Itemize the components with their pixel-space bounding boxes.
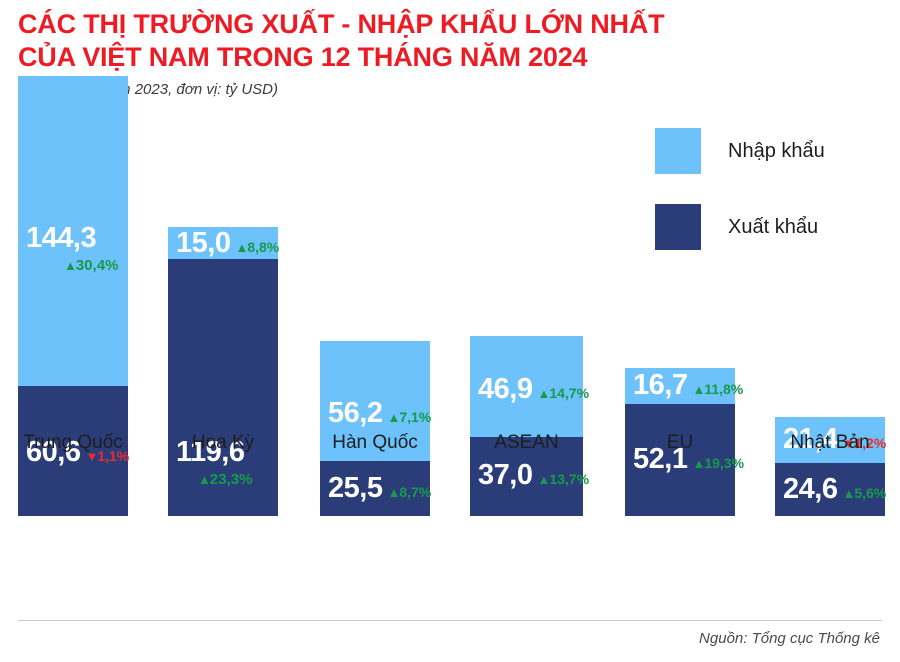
import-value: 56,2 — [328, 399, 382, 428]
import-value: 15,0 — [176, 229, 230, 258]
export-value-label: 24,6▲5,6% — [783, 475, 881, 504]
arrow-up-icon: ▲ — [537, 472, 549, 487]
category-label-2: Hàn Quốc — [290, 432, 460, 454]
category-label-3: ASEAN — [440, 432, 613, 454]
category-label-5: Nhật Bản — [745, 432, 900, 454]
bar-group[interactable]: 15,0▲8,8%119,6▲23,3%Hoa Kỳ — [168, 227, 278, 516]
bar-group[interactable]: 56,2▲7,1%25,5▲8,7%Hàn Quốc — [320, 341, 430, 516]
category-label-0: Trung Quốc — [0, 432, 158, 454]
arrow-up-icon: ▲ — [692, 456, 704, 471]
footer-divider — [18, 620, 882, 621]
arrow-up-icon: ▲ — [842, 486, 854, 501]
import-value-label: 16,7▲11,8% — [633, 371, 731, 400]
import-value: 16,7 — [633, 371, 687, 400]
import-value-label: 46,9▲14,7% — [478, 375, 579, 404]
import-change-up: ▲11,8% — [692, 382, 743, 397]
arrow-up-icon: ▲ — [537, 386, 549, 401]
export-value-label: 25,5▲8,7% — [328, 474, 426, 503]
import-change-up: ▲30,4% — [64, 259, 124, 273]
export-value: 24,6 — [783, 475, 837, 504]
arrow-up-icon: ▲ — [198, 472, 210, 487]
infographic-root: CÁC THỊ TRƯỜNG XUẤT - NHẬP KHẨU LỚN NHẤT… — [0, 0, 900, 662]
export-change-up: ▲5,6% — [842, 486, 886, 501]
bar-segment-export[interactable]: 24,6▲5,6% — [775, 463, 885, 516]
import-change-up: ▲14,7% — [537, 386, 589, 401]
category-label-1: Hoa Kỳ — [138, 432, 308, 454]
bar-group[interactable]: 144,3▲30,4%60,6▼1,1%Trung Quốc — [18, 76, 128, 516]
export-value: 25,5 — [328, 474, 382, 503]
import-value-label: 144,3▲30,4% — [26, 224, 124, 273]
bar-group[interactable]: 16,7▲11,8%52,1▲19,3%EU — [625, 368, 735, 516]
export-value: 37,0 — [478, 461, 532, 490]
import-value: 46,9 — [478, 375, 532, 404]
arrow-up-icon: ▲ — [235, 240, 247, 255]
import-value-label: 56,2▲7,1% — [328, 399, 426, 428]
bar-segment-export[interactable]: 25,5▲8,7% — [320, 461, 430, 516]
source-note: Nguồn: Tổng cục Thống kê — [699, 630, 880, 647]
bar-segment-import[interactable]: 16,7▲11,8% — [625, 368, 735, 404]
export-change-up: ▲13,7% — [537, 472, 589, 487]
arrow-up-icon: ▲ — [387, 410, 399, 425]
export-change-up: ▲23,3% — [198, 473, 274, 487]
export-value-label: 37,0▲13,7% — [478, 461, 579, 490]
arrow-up-icon: ▲ — [387, 485, 399, 500]
bar-segment-import[interactable]: 46,9▲14,7% — [470, 336, 583, 437]
chart-plot-area: 144,3▲30,4%60,6▼1,1%Trung Quốc15,0▲8,8%1… — [0, 0, 900, 608]
import-value: 144,3 — [26, 222, 96, 254]
bar-group[interactable]: 21,4▼1,2%24,6▲5,6%Nhật Bản — [775, 417, 885, 516]
bar-group[interactable]: 46,9▲14,7%37,0▲13,7%ASEAN — [470, 336, 583, 516]
export-change-up: ▲19,3% — [692, 456, 744, 471]
import-value-label: 15,0▲8,8% — [176, 229, 274, 258]
bar-segment-import[interactable]: 15,0▲8,8% — [168, 227, 278, 259]
bar-segment-export[interactable]: 119,6▲23,3% — [168, 259, 278, 516]
export-change-up: ▲8,7% — [387, 485, 431, 500]
arrow-up-icon: ▲ — [692, 382, 704, 397]
bar-segment-import[interactable]: 144,3▲30,4% — [18, 76, 128, 386]
import-change-up: ▲8,8% — [235, 240, 279, 255]
category-label-4: EU — [595, 432, 765, 454]
import-change-up: ▲7,1% — [387, 410, 431, 425]
bar-segment-export[interactable]: 52,1▲19,3% — [625, 404, 735, 516]
arrow-up-icon: ▲ — [64, 258, 76, 273]
